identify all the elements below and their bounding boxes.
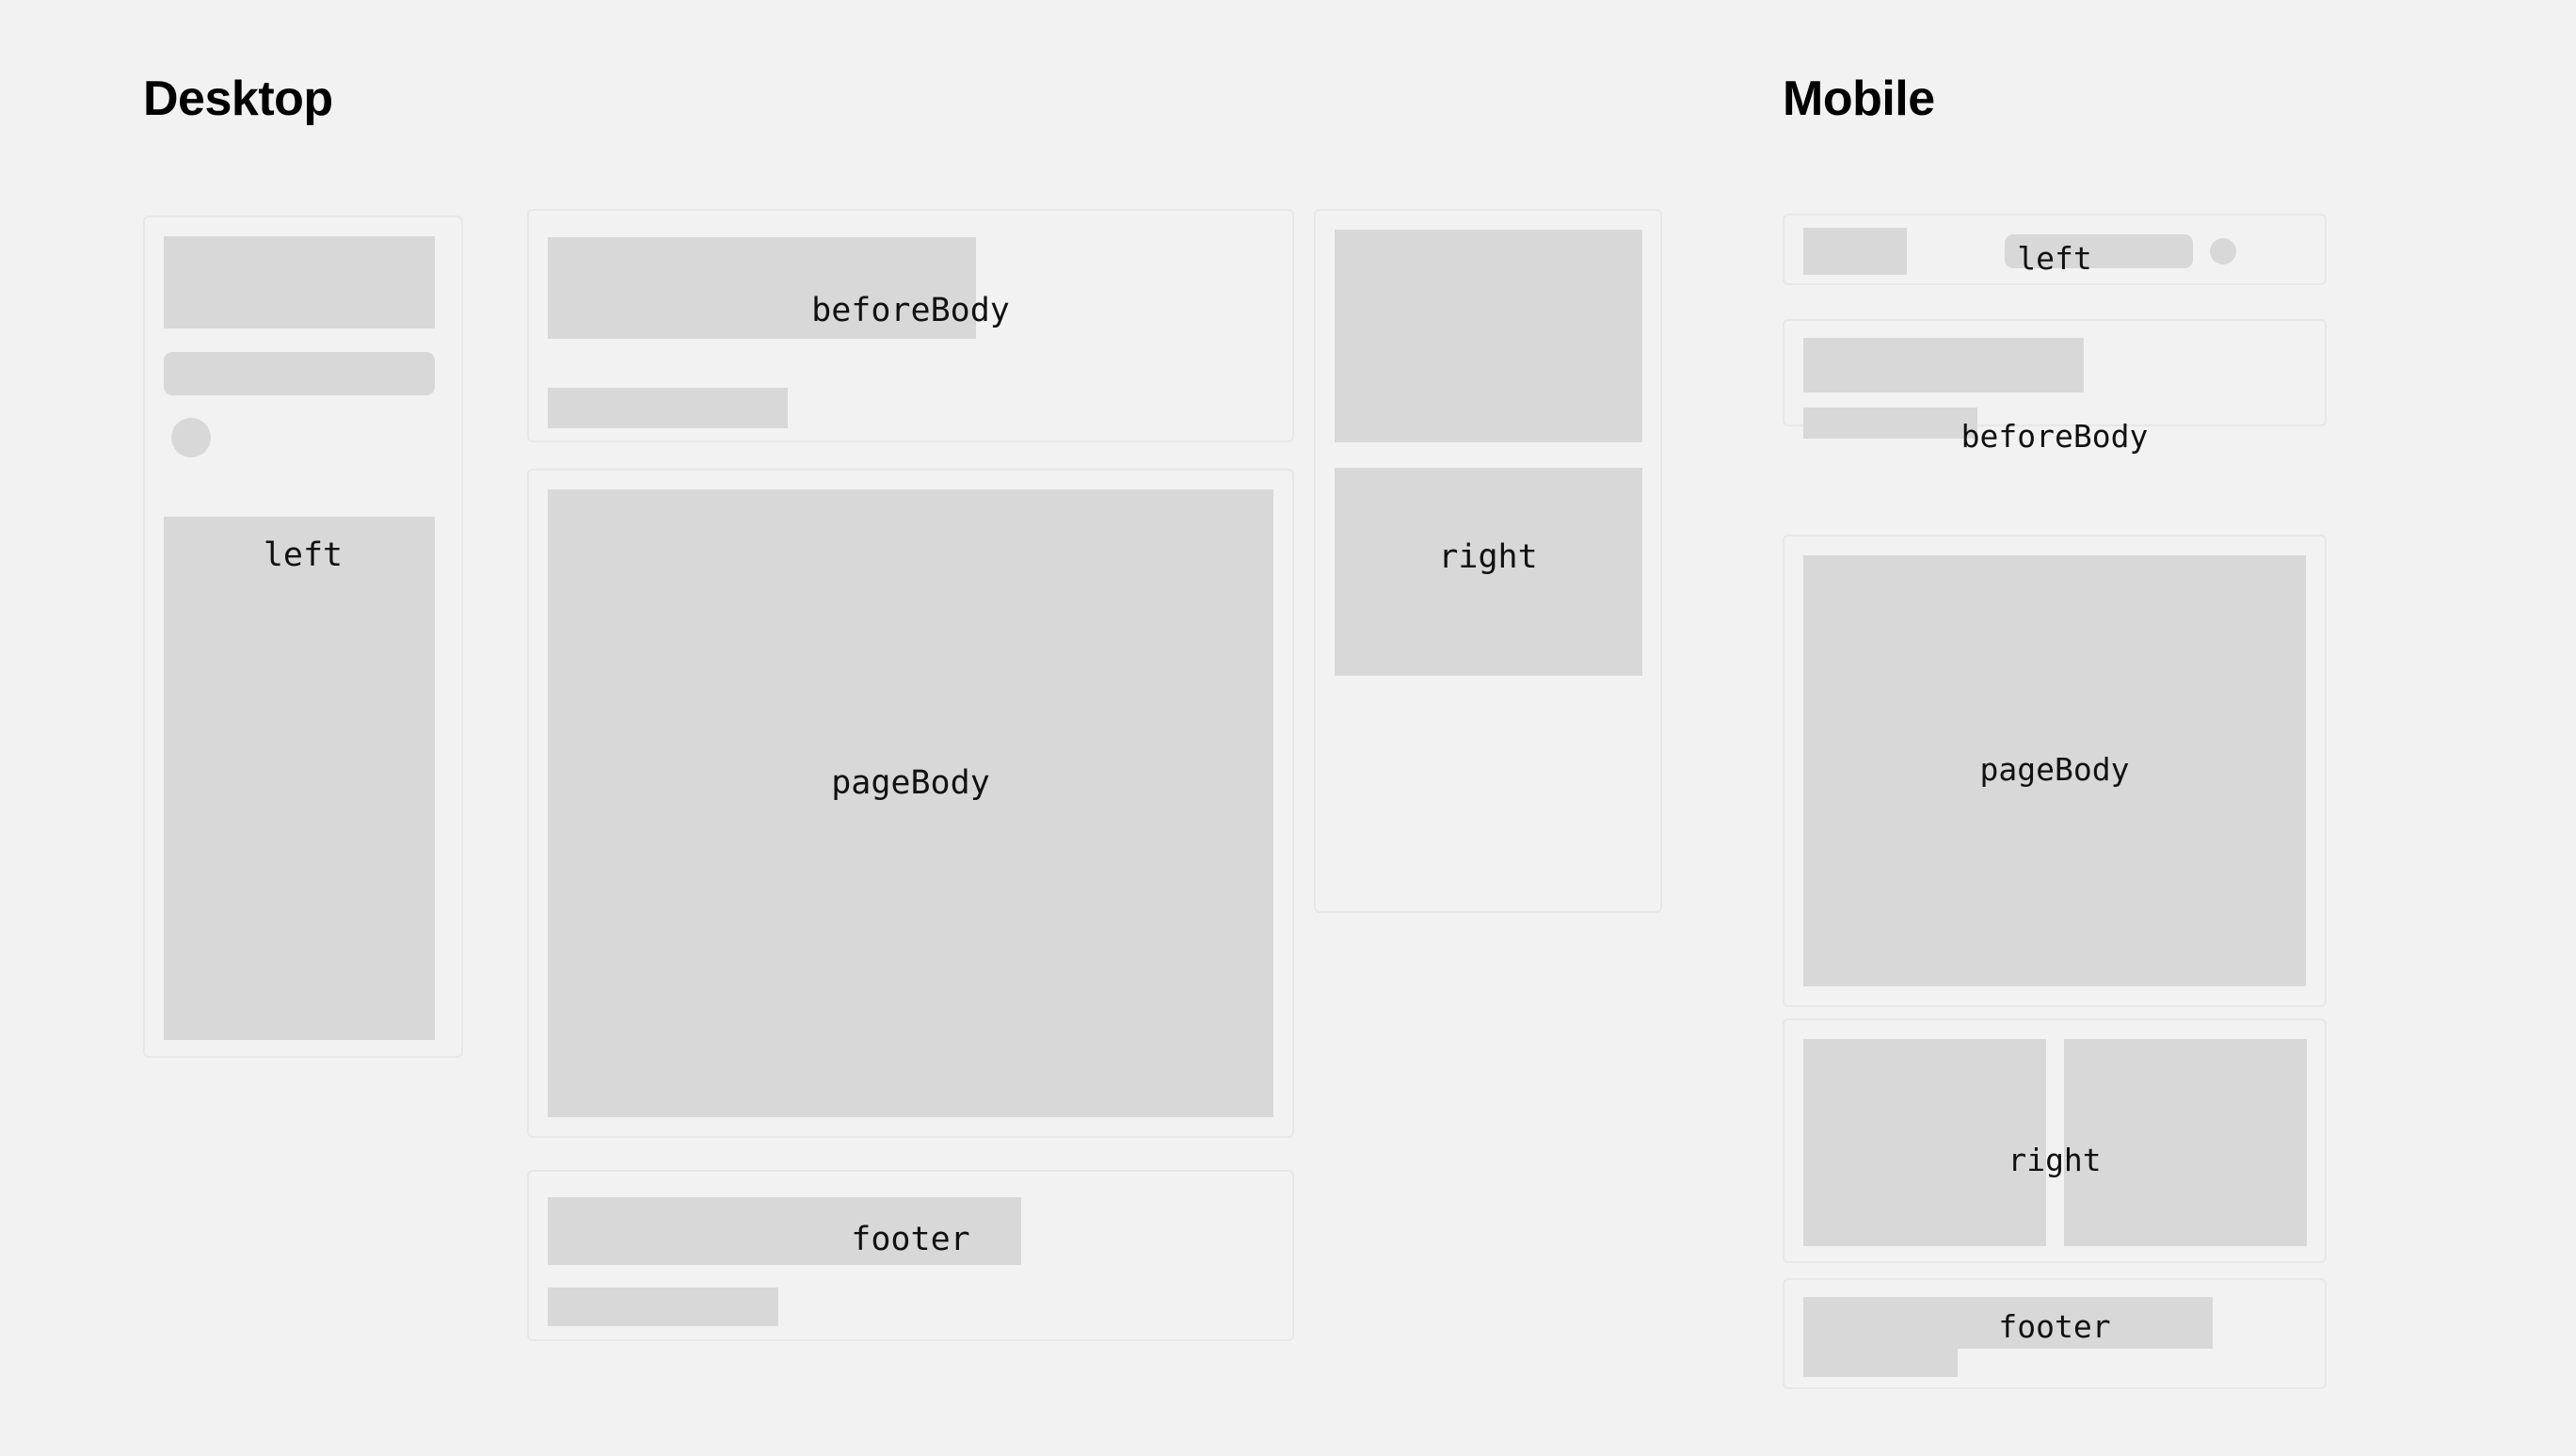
mobile-column-heading: Mobile <box>1783 71 1935 127</box>
desktop-right-widget-block-bottom <box>1335 468 1642 676</box>
mobile-left-avatar-dot-icon <box>2210 238 2236 264</box>
desktop-left-rail-body-block <box>164 517 435 1040</box>
mobile-beforebody-subline-block <box>1803 408 1977 439</box>
desktop-beforebody-banner-block <box>548 237 976 339</box>
desktop-pagebody-region-panel[interactable] <box>527 469 1294 1138</box>
desktop-left-header-block <box>164 236 435 328</box>
desktop-right-widget-block-top <box>1335 230 1642 442</box>
mobile-beforebody-region-panel[interactable] <box>1783 319 2327 426</box>
desktop-footer-region-panel[interactable] <box>527 1170 1294 1341</box>
desktop-beforebody-region-panel[interactable] <box>527 209 1294 442</box>
mobile-left-row <box>1803 228 2310 275</box>
mobile-footer-region-panel[interactable] <box>1783 1278 2327 1389</box>
desktop-column-heading: Desktop <box>143 71 333 127</box>
desktop-beforebody-subline-block <box>548 388 788 428</box>
desktop-pagebody-content-block <box>548 489 1273 1117</box>
mobile-footer-subline-block <box>1803 1349 1958 1377</box>
mobile-right-region-panel[interactable] <box>1783 1018 2327 1263</box>
desktop-left-region-panel[interactable] <box>143 216 463 1058</box>
desktop-footer-subline-block <box>548 1288 778 1326</box>
desktop-right-region-panel[interactable] <box>1314 209 1662 913</box>
desktop-left-avatar-dot-icon <box>171 418 211 457</box>
mobile-right-widget-block-left <box>1803 1039 2046 1246</box>
mobile-left-region-panel[interactable] <box>1783 214 2327 285</box>
mobile-left-header-block <box>1803 228 1907 275</box>
desktop-footer-block <box>548 1197 1021 1265</box>
mobile-left-nav-block <box>2005 234 2193 268</box>
mobile-pagebody-region-panel[interactable] <box>1783 535 2327 1007</box>
mobile-pagebody-content-block <box>1803 555 2306 986</box>
desktop-left-nav-block <box>164 352 435 395</box>
mobile-right-widget-block-right <box>2064 1039 2307 1246</box>
mobile-footer-block <box>1803 1297 2213 1349</box>
mobile-beforebody-banner-block <box>1803 338 2084 392</box>
